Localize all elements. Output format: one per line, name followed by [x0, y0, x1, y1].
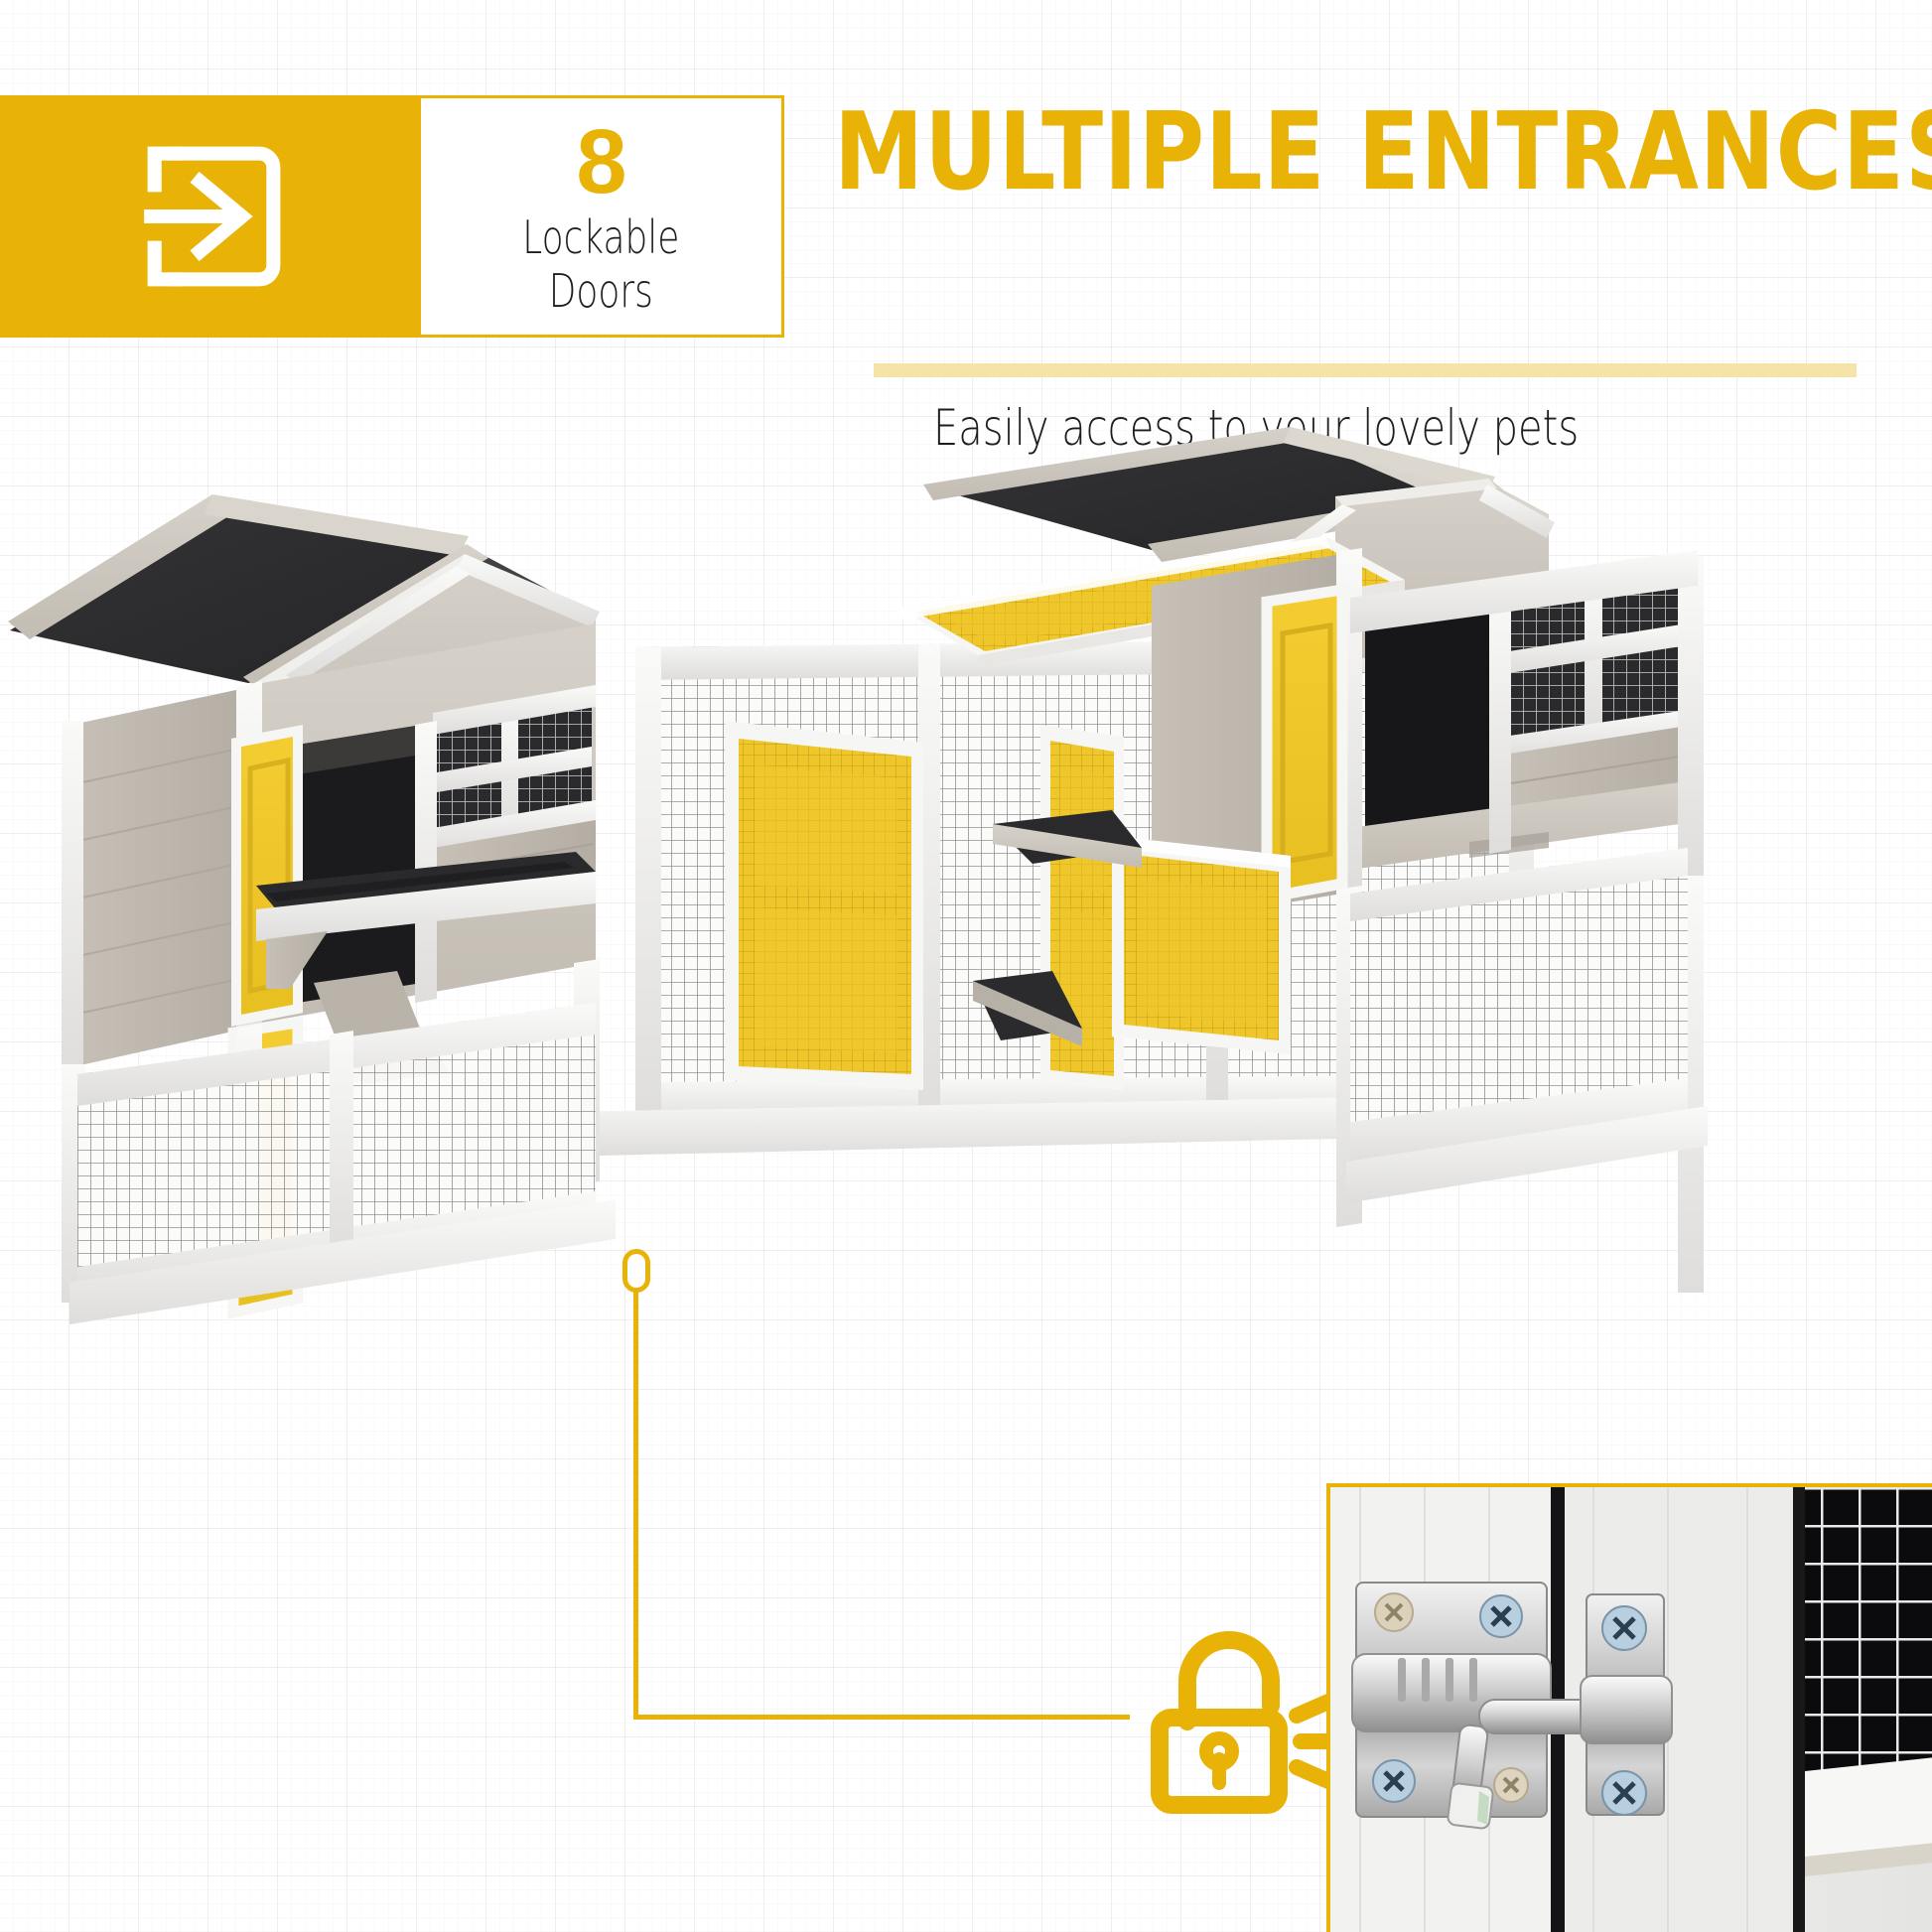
rabbit-hutch-illustration — [0, 427, 1932, 1350]
stat-number: 8 — [576, 120, 625, 205]
stat-label: Lockable Doors — [523, 210, 680, 319]
latch-photo — [1330, 1487, 1932, 1932]
feature-icon-block — [0, 95, 421, 338]
headline-wrap: MULTIPLE ENTRANCES — [834, 99, 1932, 207]
callout-line-horizontal — [633, 1715, 1130, 1720]
latch-location-marker — [622, 1249, 650, 1293]
stat-label-line2: Doors — [523, 264, 680, 318]
product-photo — [0, 427, 1932, 1350]
callout-line-vertical — [633, 1291, 638, 1720]
door-exit-arrow-icon — [123, 129, 298, 304]
page-title: MULTIPLE ENTRANCES — [834, 99, 1756, 207]
headline-divider — [874, 363, 1857, 377]
stat-card: 8 Lockable Doors — [421, 95, 784, 338]
stat-label-line1: Lockable — [523, 210, 680, 264]
open-padlock-icon — [1126, 1618, 1344, 1827]
header-band: 8 Lockable Doors MULTIPLE ENTRANCES Easi… — [0, 95, 1932, 338]
barrel-bolt-latch-closeup — [1326, 1483, 1932, 1932]
